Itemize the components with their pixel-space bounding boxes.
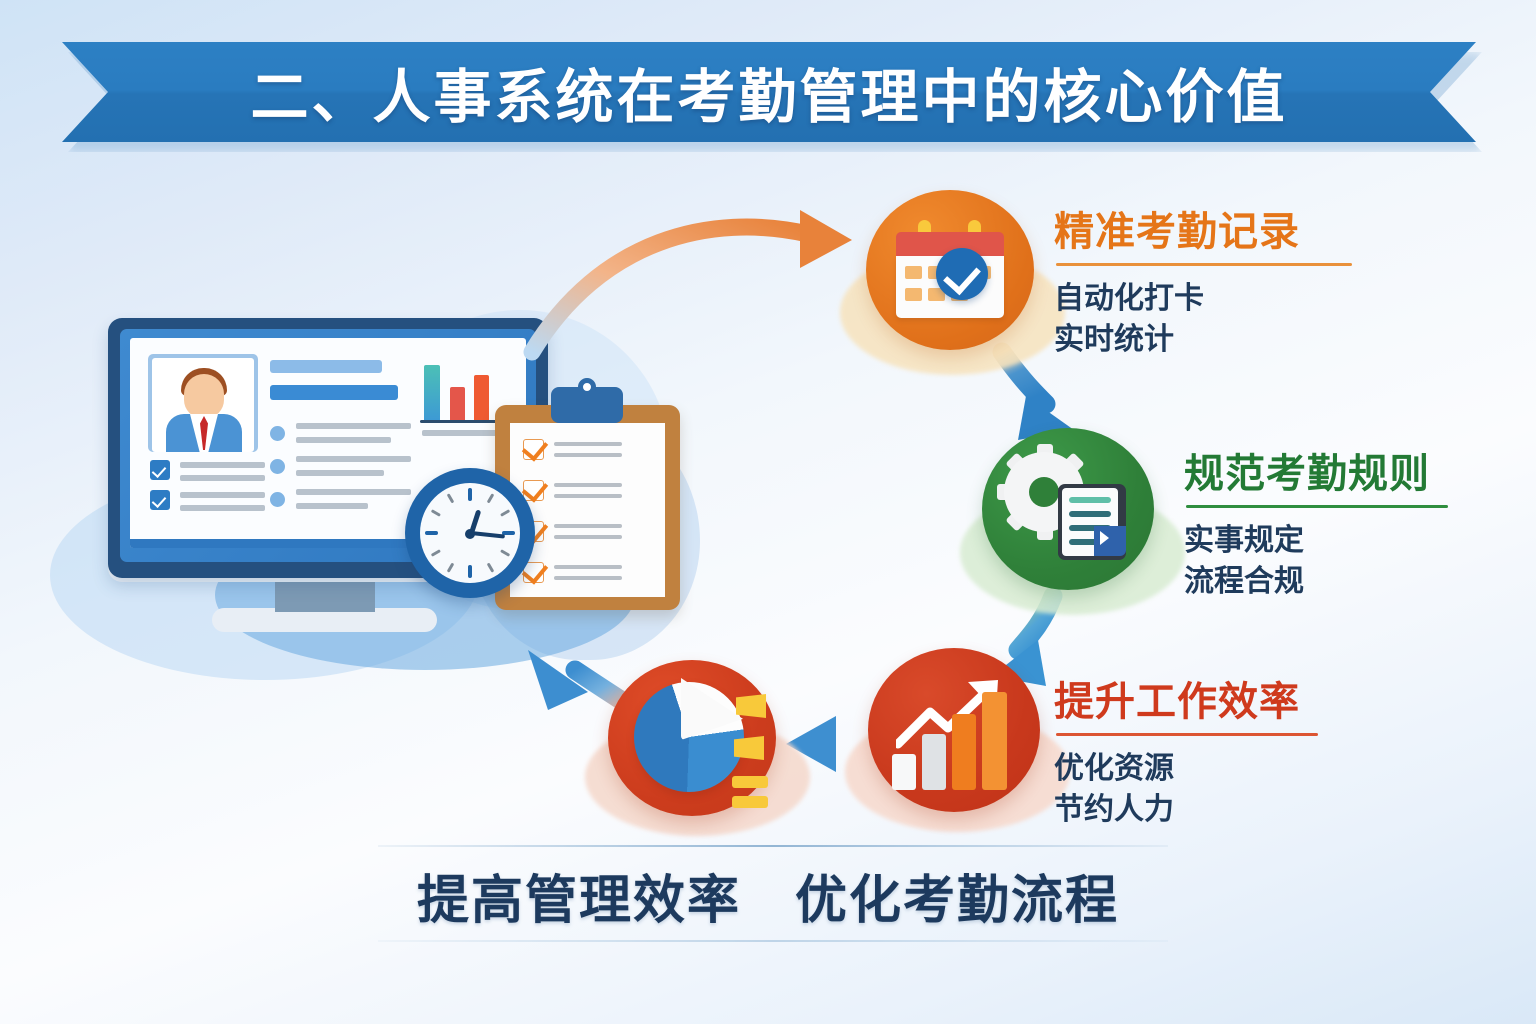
text-block-standard-rule: 规范考勤规则 实事规定 流程合规: [1184, 452, 1448, 602]
growth-bar-chart-icon: [890, 670, 1018, 790]
heading-standard-rule: 规范考勤规则: [1184, 452, 1448, 496]
heading-underline: [1186, 505, 1448, 508]
calendar-cell: [905, 266, 922, 279]
document-icon: [1058, 484, 1126, 560]
growth-bar-2: [922, 734, 946, 790]
pie-chart-icon: [634, 682, 744, 792]
text-block-work-efficiency: 提升工作效率 优化资源 节约人力: [1054, 680, 1318, 830]
footer-divider-top: [378, 845, 1168, 847]
gear-hole: [1029, 477, 1059, 507]
desc-accurate-record-line-1: 自动化打卡: [1054, 279, 1352, 320]
pie-legend-wedge-1: [736, 694, 766, 718]
pie-legend-wedge-2: [734, 736, 764, 760]
document-fold: [1094, 526, 1126, 556]
node-data-analysis[interactable]: [608, 660, 776, 816]
heading-underline: [1056, 733, 1318, 736]
growth-bar-1: [892, 754, 916, 790]
footer-caption: 提高管理效率 优化考勤流程: [0, 858, 1536, 933]
desc-standard-rule-line-1: 实事规定: [1184, 521, 1448, 562]
desc-accurate-record-line-2: 实时统计: [1054, 320, 1352, 361]
growth-bar-4: [982, 692, 1007, 790]
node-work-efficiency[interactable]: [868, 648, 1040, 812]
infographic-stage: 二、人事系统在考勤管理中的核心价值: [0, 0, 1536, 1024]
calendar-cell: [905, 288, 922, 301]
heading-accurate-record: 精准考勤记录: [1054, 210, 1352, 254]
desc-standard-rule-line-2: 流程合规: [1184, 562, 1448, 603]
document-line: [1069, 497, 1111, 503]
growth-bar-3: [952, 714, 976, 790]
desc-work-efficiency-line-2: 节约人力: [1054, 790, 1318, 831]
desc-work-efficiency-line-1: 优化资源: [1054, 749, 1318, 790]
check-badge-icon: [936, 248, 988, 300]
heading-underline: [1056, 263, 1352, 266]
pie-legend-bar-2: [732, 796, 768, 808]
heading-work-efficiency: 提升工作效率: [1054, 680, 1318, 724]
text-block-accurate-record: 精准考勤记录 自动化打卡 实时统计: [1054, 210, 1352, 360]
pie-legend-bar-1: [732, 776, 768, 788]
document-line: [1069, 511, 1111, 517]
node-standard-rule[interactable]: [982, 428, 1154, 590]
footer-divider-bottom: [378, 940, 1168, 942]
node-accurate-record[interactable]: [866, 190, 1034, 350]
